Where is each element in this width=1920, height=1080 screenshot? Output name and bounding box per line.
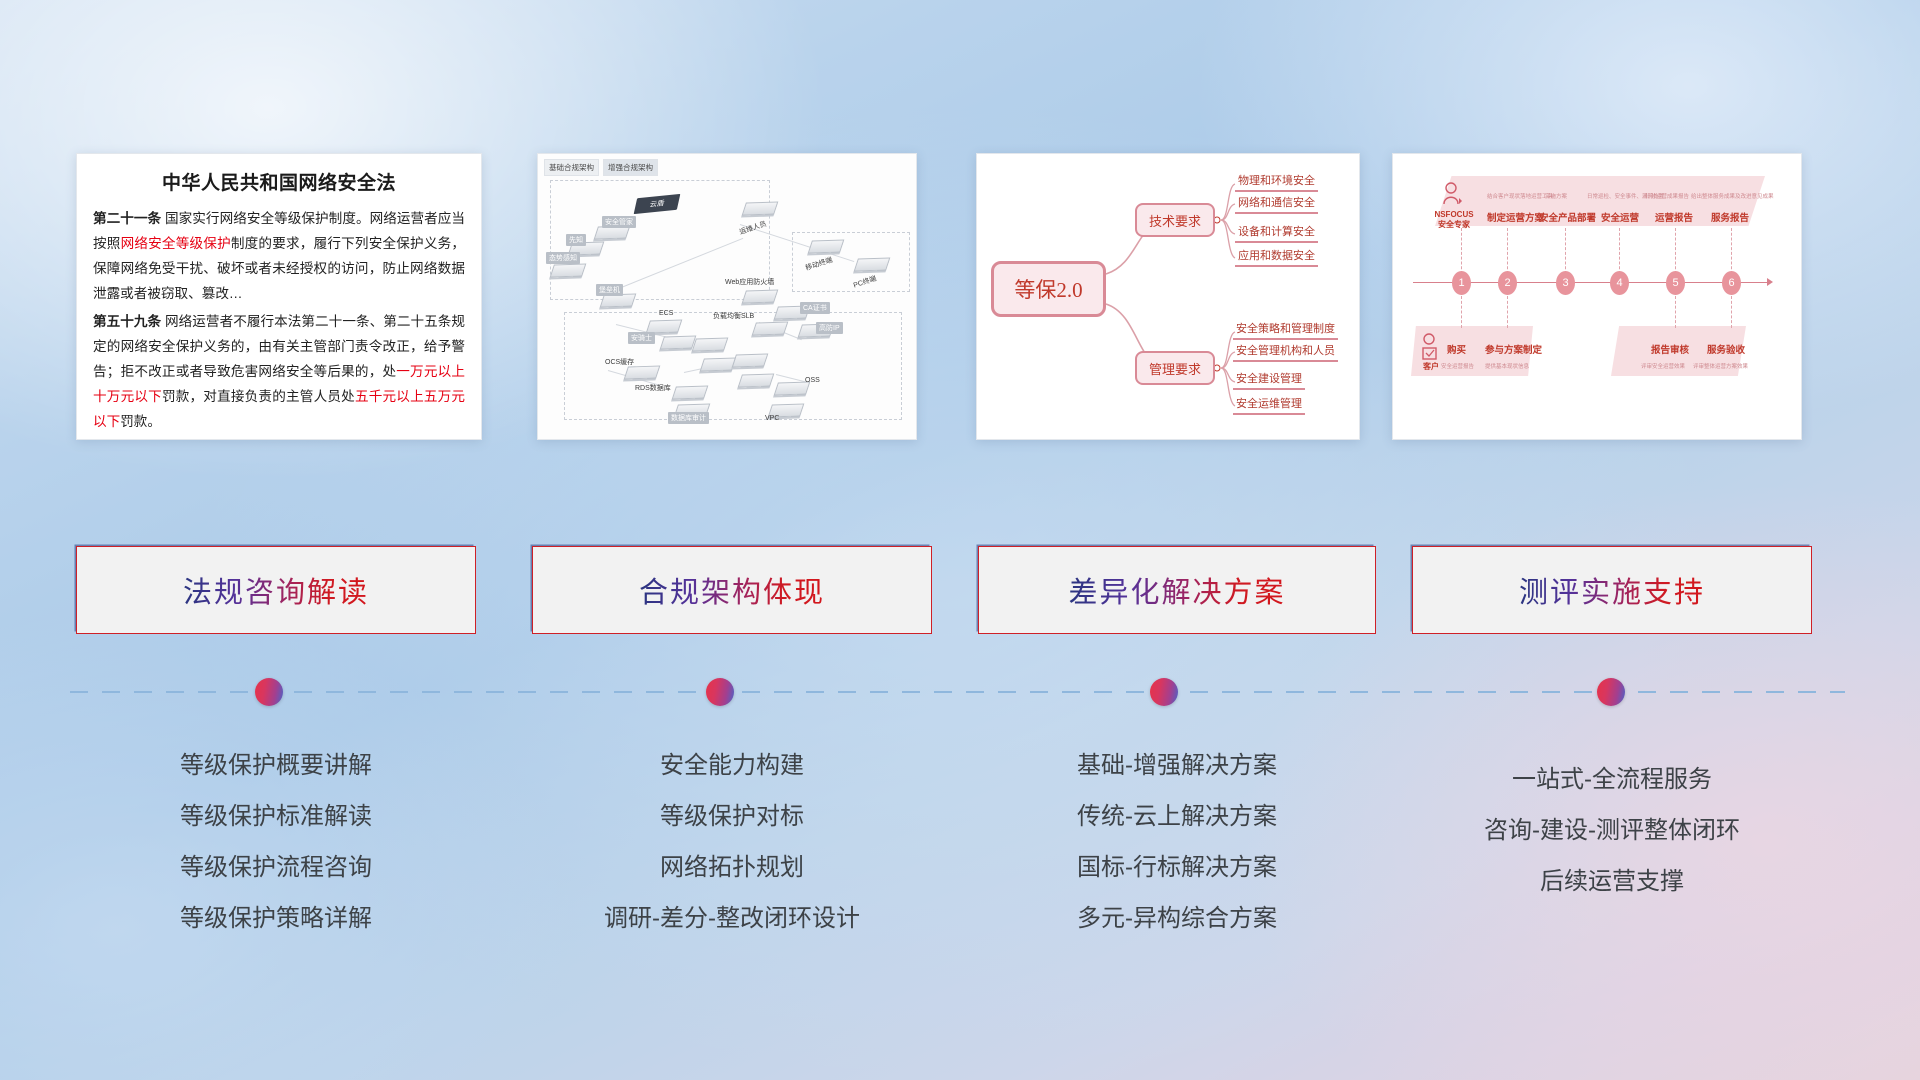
- law-paragraph-59: 第五十九条 网络运营者不履行本法第二十一条、第二十五条规定的网络安全保护义务的，…: [93, 309, 465, 434]
- timeline-arrow-icon: [1767, 278, 1773, 286]
- step-connector: [1565, 228, 1566, 274]
- node-icon: [692, 337, 729, 351]
- node-icon: [742, 289, 779, 303]
- node-security-butler-label: 安全管家: [602, 216, 636, 228]
- step-connector: [1731, 228, 1732, 274]
- node-icon: [742, 201, 779, 215]
- mindmap-root[interactable]: 等保2.0: [991, 261, 1106, 317]
- step-dot[interactable]: 1: [1452, 271, 1471, 295]
- law-highlight: 网络安全等级保护: [121, 236, 231, 251]
- section-title-text: 合规架构体现: [639, 569, 825, 611]
- node-vpc-label: VPC: [762, 414, 782, 423]
- list-item: 网络拓扑规划: [532, 842, 932, 893]
- step-dot[interactable]: 3: [1556, 271, 1575, 295]
- law-paragraph-21: 第二十一条 国家实行网络安全等级保护制度。网络运营者应当按照网络安全等级保护制度…: [93, 206, 465, 306]
- card-cybersecurity-law[interactable]: 中华人民共和国网络安全法 第二十一条 国家实行网络安全等级保护制度。网络运营者应…: [76, 153, 482, 440]
- step-sub-bottom: 评审安全运营效果: [1641, 362, 1685, 370]
- node-icon: [732, 353, 769, 367]
- step-dot[interactable]: 6: [1722, 271, 1741, 295]
- list-item: 传统-云上解决方案: [978, 791, 1376, 842]
- node-xianzhi-label: 先知: [566, 234, 586, 246]
- step-connector: [1675, 228, 1676, 274]
- node-icon: [660, 335, 697, 349]
- mindmap-leaf: 安全策略和管理制度: [1233, 320, 1338, 340]
- node-ca-certificate-label: CA证书: [800, 302, 830, 314]
- section-title-text: 差异化解决方案: [1068, 569, 1285, 611]
- step-label-top: 运营报告: [1655, 210, 1693, 224]
- step-label-top: 制定运营方案: [1487, 210, 1544, 224]
- step-dot[interactable]: 2: [1498, 271, 1517, 295]
- section-title-box-1[interactable]: 法规咨询解读: [76, 546, 476, 634]
- step-dot[interactable]: 4: [1610, 271, 1629, 295]
- step-label-top: 安全运营: [1601, 210, 1639, 224]
- mindmap-branch-management[interactable]: 管理要求: [1135, 351, 1215, 385]
- image-card-row: 中华人民共和国网络安全法 第二十一条 国家实行网络安全等级保护制度。网络运营者应…: [0, 153, 1920, 443]
- mindmap-leaf: 物理和环境安全: [1235, 172, 1318, 192]
- section-title-box-4[interactable]: 测评实施支持: [1412, 546, 1812, 634]
- role-label-expert: NSFOCUS安全专家: [1429, 210, 1479, 230]
- node-icon: [854, 257, 891, 271]
- mindmap-leaf: 设备和计算安全: [1235, 223, 1318, 243]
- timeline-dot-4[interactable]: [1597, 678, 1625, 706]
- list-item: 国标-行标解决方案: [978, 842, 1376, 893]
- step-dot[interactable]: 5: [1666, 271, 1685, 295]
- detail-list-1: 等级保护概要讲解 等级保护标准解读 等级保护流程咨询 等级保护策略详解: [76, 740, 476, 944]
- step-sub-bottom: 安全运营报告: [1441, 362, 1474, 370]
- step-label-bottom: 服务验收: [1707, 342, 1745, 356]
- step-label-bottom: 报告审核: [1651, 342, 1689, 356]
- list-item: 等级保护对标: [532, 791, 932, 842]
- law-article-number-59: 第五十九条: [93, 314, 161, 329]
- architecture-diagram: 基础合规架构 增强合规架构 云盾 安全管家: [538, 154, 916, 439]
- node-anti-ddos-ip-label: 高防IP: [816, 322, 843, 334]
- law-title: 中华人民共和国网络安全法: [93, 168, 465, 195]
- step-sub-top: 实施方案: [1545, 192, 1567, 200]
- list-item: 等级保护策略详解: [76, 893, 476, 944]
- law-seg: 罚款。: [120, 414, 161, 429]
- detail-list-3: 基础-增强解决方案 传统-云上解决方案 国标-行标解决方案 多元-异构综合方案: [978, 740, 1376, 944]
- detail-list-4: 一站式-全流程服务 咨询-建设-测评整体闭环 后续运营支撑: [1412, 754, 1812, 907]
- node-icon: [808, 239, 845, 253]
- node-situation-awareness-label: 态势感知: [546, 252, 580, 264]
- section-title-text: 法规咨询解读: [183, 569, 369, 611]
- timeline-dot-1[interactable]: [255, 678, 283, 706]
- law-seg: 罚款，对直接负责的主管人员处: [162, 389, 355, 404]
- list-item: 安全能力构建: [532, 740, 932, 791]
- mindmap-leaf: 应用和数据安全: [1235, 247, 1318, 267]
- node-oss-label: OSS: [802, 376, 823, 385]
- step-label-top: 安全产品部署: [1539, 210, 1596, 224]
- node-db-audit-label: 数据库审计: [668, 412, 709, 424]
- node-waf-label: Web应用防火墙: [722, 276, 777, 288]
- mindmap-leaf: 安全建设管理: [1233, 370, 1305, 390]
- card-mindmap-dengbao[interactable]: 等保2.0 技术要求 物理和环境安全 网络和通信安全 设备和计算安全 应用和数据…: [976, 153, 1360, 440]
- list-item: 调研-差分-整改闭环设计: [532, 893, 932, 944]
- step-sub-bottom: 提供基本现状信息: [1485, 362, 1529, 370]
- list-item: 等级保护概要讲解: [76, 740, 476, 791]
- mindmap: 等保2.0 技术要求 物理和环境安全 网络和通信安全 设备和计算安全 应用和数据…: [977, 154, 1359, 439]
- node-anqishi-label: 安骑士: [628, 332, 655, 344]
- step-label-bottom: 购买: [1447, 342, 1466, 356]
- node-icon: [700, 357, 737, 371]
- list-item: 一站式-全流程服务: [1412, 754, 1812, 805]
- section-title-box-3[interactable]: 差异化解决方案: [978, 546, 1376, 634]
- step-sub-top: 给出整体服务成果及改进意见成果: [1691, 192, 1774, 200]
- list-item: 咨询-建设-测评整体闭环: [1412, 805, 1812, 856]
- node-rds-label: RDS数据库: [632, 382, 674, 394]
- section-title-row: 法规咨询解读 合规架构体现 差异化解决方案 测评实施支持: [0, 546, 1920, 634]
- step-connector: [1507, 296, 1508, 328]
- step-connector: [1675, 296, 1676, 328]
- node-icon: [550, 263, 587, 277]
- mindmap-leaf: 网络和通信安全: [1235, 194, 1318, 214]
- list-item: 等级保护流程咨询: [76, 842, 476, 893]
- card-nsfocus-process[interactable]: NSFOCUS安全专家 客户 制定运营方案 结合客户现状落地运营工具 安全产品部…: [1392, 153, 1802, 440]
- list-item: 等级保护标准解读: [76, 791, 476, 842]
- mindmap-branch-technical[interactable]: 技术要求: [1135, 203, 1215, 237]
- list-item: 多元-异构综合方案: [978, 893, 1376, 944]
- list-item: 基础-增强解决方案: [978, 740, 1376, 791]
- mindmap-leaf: 安全运维管理: [1233, 395, 1305, 415]
- step-connector: [1461, 228, 1462, 274]
- step-connector: [1731, 296, 1732, 328]
- step-label-top: 服务报告: [1711, 210, 1749, 224]
- law-document: 中华人民共和国网络安全法 第二十一条 国家实行网络安全等级保护制度。网络运营者应…: [77, 154, 481, 440]
- node-ocs-cache-label: OCS缓存: [602, 356, 637, 368]
- step-sub-top: 针对运营成果报告: [1645, 192, 1689, 200]
- timeline-dot-2[interactable]: [706, 678, 734, 706]
- nsfocus-timeline: NSFOCUS安全专家 客户 制定运营方案 结合客户现状落地运营工具 安全产品部…: [1393, 154, 1801, 439]
- list-item: 后续运营支撑: [1412, 856, 1812, 907]
- section-title-text: 测评实施支持: [1519, 569, 1705, 611]
- step-connector: [1507, 228, 1508, 274]
- node-icon: [738, 373, 775, 387]
- detail-list-2: 安全能力构建 等级保护对标 网络拓扑规划 调研-差分-整改闭环设计: [532, 740, 932, 944]
- step-sub-bottom: 评审整体运营方案效果: [1693, 362, 1748, 370]
- node-bastion-host-label: 堡垒机: [596, 284, 623, 296]
- mindmap-leaf: 安全管理机构和人员: [1233, 342, 1338, 362]
- node-icon: [672, 385, 709, 399]
- expert-head-icon: [1446, 183, 1456, 193]
- timeline-dot-3[interactable]: [1150, 678, 1178, 706]
- step-label-bottom: 参与方案制定: [1485, 342, 1542, 356]
- node-ecs-label: ECS: [656, 309, 676, 318]
- card-compliance-architecture[interactable]: 基础合规架构 增强合规架构 云盾 安全管家: [537, 153, 917, 440]
- customer-head-icon: [1424, 334, 1434, 344]
- step-connector: [1461, 296, 1462, 328]
- law-article-number-21: 第二十一条: [93, 211, 161, 226]
- step-connector: [1619, 228, 1620, 274]
- step-sub-top: 结合客户现状落地运营工具: [1487, 192, 1553, 200]
- architecture-canvas: 云盾 安全管家 先知 态势感知 堡垒机 运维人员 移动终端 PC终端: [544, 174, 910, 433]
- timeline-dashed-line: [70, 690, 1845, 694]
- node-icon: [752, 321, 789, 335]
- section-title-box-2[interactable]: 合规架构体现: [532, 546, 932, 634]
- node-slb-label: 负载均衡SLB: [710, 310, 757, 322]
